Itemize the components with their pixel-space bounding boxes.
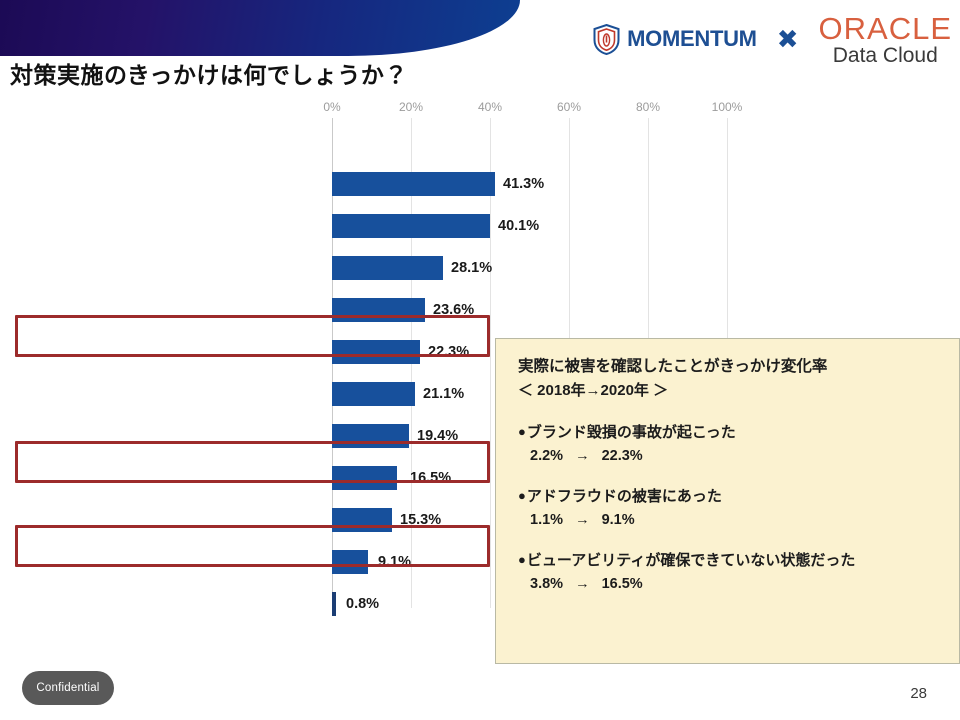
bar-value-label: 28.1% [451,260,492,276]
bar-segment [332,214,490,238]
arrow-icon: → [575,512,590,528]
arrow-icon: → [575,576,590,592]
callout-item: ●ビューアビリティが確保できていない状態だった 3.8%→16.5% [518,549,945,592]
bar-row: アドフラウドやブランド毀損が問題になっているから 41.3% [0,163,500,205]
momentum-logo: MOMENTUM [593,24,757,55]
callout-item-text: ブランド毀損の事故が起こった [527,424,736,441]
callout-item-label: ●アドフラウドの被害にあった [518,485,945,506]
bar-row: 大手企業の導入事例を見て 40.1% [0,205,500,247]
bullet-icon: ● [518,424,526,439]
shield-icon [593,24,620,55]
bar-segment [332,592,336,616]
oracle-logo: ORACLE Data Cloud [819,13,952,66]
arrow-icon: → [575,448,590,464]
highlight-box-brand-damage [15,315,490,357]
callout-title: 実際に被害を確認したことがきっかけ変化率 [518,355,945,378]
highlight-box-adfraud [15,525,490,567]
callout-item-from: 2.2% [530,448,563,464]
momentum-wordmark: MOMENTUM [627,26,757,52]
callout-item-to: 16.5% [602,576,643,592]
x-tick-4: 80% [636,100,660,114]
callout-item-from: 1.1% [530,512,563,528]
confidential-badge: Confidential [22,671,114,705]
bar-value-label: 21.1% [423,386,464,402]
callout-item-text: アドフラウドの被害にあった [527,488,722,505]
callout-item-text: ビューアビリティが確保できていない状態だった [527,552,856,569]
bar-row: セミナーや勉強会で勧められたから 28.1% [0,247,500,289]
header-banner [0,0,520,56]
bar-chart: 0% 20% 40% 60% 80% 100% アドフラウドやブランド毀損が問題… [0,100,500,630]
x-tick-0: 0% [323,100,340,114]
callout-panel: 実際に被害を確認したことがきっかけ変化率 ＜ 2018年→2020年 ＞ ●ブラ… [495,338,960,664]
callout-item-label: ●ブランド毀損の事故が起こった [518,421,945,442]
x-axis-tick-labels: 0% 20% 40% 60% 80% 100% [0,100,500,118]
page-number: 28 [910,685,927,702]
callout-item: ●アドフラウドの被害にあった 1.1%→9.1% [518,485,945,528]
cross-icon: ✖ [773,26,803,52]
bullet-icon: ● [518,552,526,567]
callout-item-values: 3.8%→16.5% [530,576,945,592]
callout-item-label: ●ビューアビリティが確保できていない状態だった [518,549,945,570]
callout-item: ●ブランド毀損の事故が起こった 2.2%→22.3% [518,421,945,464]
header-logo-group: MOMENTUM ✖ ORACLE Data Cloud [593,8,952,70]
bar-value-label: 40.1% [498,218,539,234]
bar-value-label: 0.8% [346,596,379,612]
bar-value-label: 41.3% [503,176,544,192]
oracle-wordmark: ORACLE [819,13,952,44]
page-title: 対策実施のきっかけは何でしょうか？ [10,56,408,90]
callout-item-values: 2.2%→22.3% [530,448,945,464]
bar-segment [332,172,495,196]
callout-subtitle: ＜ 2018年→2020年 ＞ [518,379,945,400]
bar-row: 雑誌や新聞、WEB メディアなどで記事を読んだから 21.1% [0,373,500,415]
callout-item-to: 22.3% [602,448,643,464]
callout-item-from: 3.8% [530,576,563,592]
x-tick-2: 40% [478,100,502,114]
x-tick-5: 100% [712,100,743,114]
bar-row: その他 0.8% [0,583,500,625]
oracle-sub-wordmark: Data Cloud [833,45,938,66]
bar-segment [332,256,443,280]
callout-item-to: 9.1% [602,512,635,528]
callout-item-values: 1.1%→9.1% [530,512,945,528]
x-tick-3: 60% [557,100,581,114]
highlight-box-viewability [15,441,490,483]
bar-segment [332,382,415,406]
bullet-icon: ● [518,488,526,503]
x-tick-1: 20% [399,100,423,114]
